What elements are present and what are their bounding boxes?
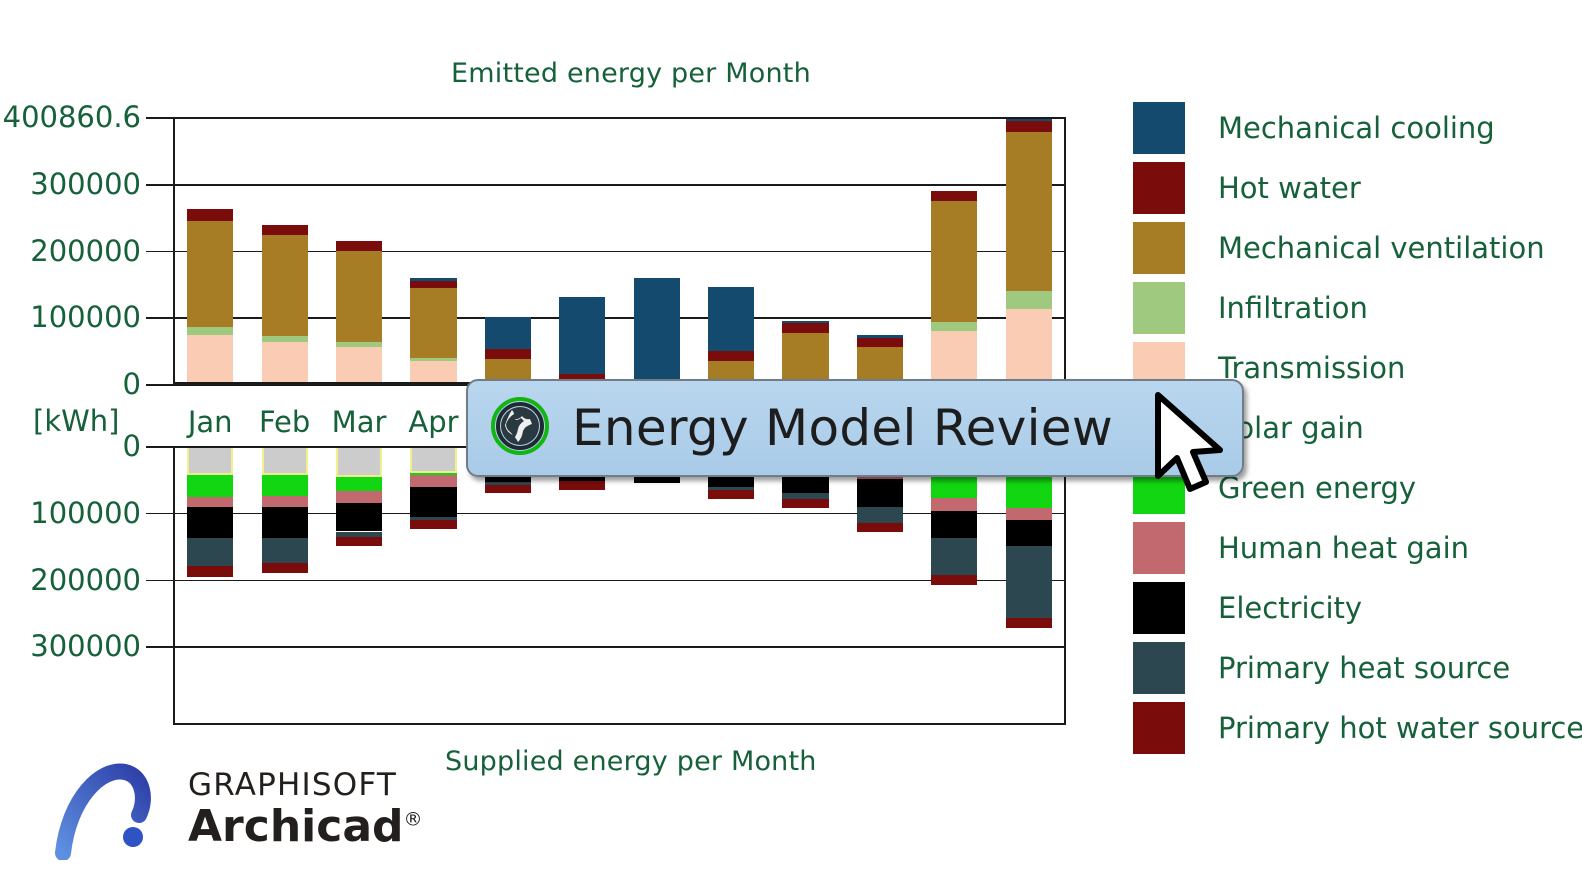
bar-segment [782,323,828,332]
legend-item-1[interactable]: Hot water [1133,158,1361,218]
bar-segment [410,361,456,384]
x-tick-label-jan: Jan [188,405,233,439]
chip-label: Energy Model Review [572,399,1113,457]
bar-segment [559,481,605,490]
bar-segment [1006,618,1052,629]
bar-segment [262,235,308,336]
bar-segment [708,351,754,361]
bar-segment [410,288,456,358]
bar-segment [1006,309,1052,384]
legend-item-0[interactable]: Mechanical cooling [1133,98,1495,158]
bar-segment [187,327,233,334]
tick-mark [146,184,173,186]
legend-label: Human heat gain [1218,531,1469,565]
y-tick-label: 100000 [30,496,141,530]
bar-segment [931,331,977,384]
graphisoft-archicad-logo: GRAPHISOFT Archicad® [55,755,423,864]
gridline [173,117,1066,119]
legend-item-9[interactable]: Primary heat source [1133,638,1510,698]
tick-mark [146,317,173,319]
x-tick-label-mar: Mar [332,405,387,439]
bar-segment [262,225,308,236]
bar-segment [187,209,233,220]
archicad-wordmark: GRAPHISOFT Archicad® [188,770,423,849]
legend-label: Transmission [1218,351,1405,385]
y-tick-label: 300000 [30,167,141,201]
tick-mark [146,446,173,448]
x-tick-label-feb: Feb [259,405,310,439]
bar-segment [857,523,903,532]
bar-segment [782,493,828,500]
bar-segment [336,347,382,384]
legend-item-2[interactable]: Mechanical ventilation [1133,218,1545,278]
legend-label: Primary hot water source [1218,711,1582,745]
tick-mark [146,251,173,253]
legend-label: Infiltration [1218,291,1368,325]
bar-segment [1006,118,1052,121]
graphisoft-mark-icon [55,755,170,864]
y-tick-label: 100000 [30,300,141,334]
bar-segment [336,251,382,342]
bar-segment [634,278,680,384]
bar-segment [485,349,531,358]
bar-segment [1006,121,1052,132]
energy-model-review-chip[interactable]: Energy Model Review [466,379,1244,477]
product-name: Archicad® [188,805,423,849]
emitted-chart-title: Emitted energy per Month [451,58,811,89]
legend-item-10[interactable]: Primary hot water source [1133,698,1582,758]
legend-swatch [1133,702,1185,754]
bar-segment [782,499,828,508]
bar-segment [559,297,605,374]
bar-segment [782,321,828,324]
legend-item-8[interactable]: Electricity [1133,578,1362,638]
legend-swatch [1133,642,1185,694]
legend-label: Mechanical ventilation [1218,231,1545,265]
bar-segment [410,358,456,361]
bar-segment [410,475,456,487]
bar-segment [262,563,308,573]
legend-swatch [1133,102,1185,154]
legend-label: Electricity [1218,591,1362,625]
bar-segment [857,335,903,338]
y-tick-label: 300000 [30,629,141,663]
bar-segment [931,575,977,585]
bar-segment [857,507,903,523]
vendor-name: GRAPHISOFT [188,770,423,801]
tick-mark [146,580,173,582]
bar-segment [187,446,233,475]
supplied-chart-title: Supplied energy per Month [445,746,817,777]
legend-swatch [1133,162,1185,214]
bar-segment [708,490,754,499]
bar-segment [1006,520,1052,545]
tick-mark [146,646,173,648]
bar-segment [336,241,382,251]
y-tick-label: 200000 [30,563,141,597]
tick-mark [146,117,173,119]
bar-segment [262,538,308,563]
bar-segment [410,281,456,288]
bar-segment [262,446,308,475]
bar-segment [187,507,233,538]
legend-item-7[interactable]: Human heat gain [1133,518,1469,578]
bar-segment [336,491,382,503]
bar-segment [931,538,977,575]
bar-segment [187,221,233,328]
gridline [173,646,1066,648]
y-tick-label: 400860.6 [3,100,141,134]
y-tick-label: 200000 [30,234,141,268]
bar-segment [485,317,531,349]
legend-item-3[interactable]: Infiltration [1133,278,1368,338]
bar-segment [410,520,456,529]
legend-swatch [1133,582,1185,634]
bar-segment [336,503,382,531]
bar-segment [485,485,531,494]
legend-swatch [1133,522,1185,574]
bar-segment [857,338,903,347]
bar-segment [336,446,382,477]
bar-segment [410,278,456,281]
emitted-y-axis-unit: [kWh] [33,404,119,438]
bar-segment [187,335,233,384]
bar-segment [857,479,903,507]
bar-segment [1006,291,1052,309]
tick-mark [146,384,173,386]
bar-segment [262,475,308,496]
bar-segment [931,322,977,331]
bar-segment [187,475,233,497]
bar-segment [336,477,382,491]
bar-segment [782,333,828,384]
x-tick-label-apr: Apr [408,405,458,439]
bar-segment [931,498,977,511]
legend-label: Mechanical cooling [1218,111,1495,145]
y-tick-label: 0 [123,429,141,463]
bar-segment [708,287,754,352]
bar-segment [187,497,233,508]
legend-label: Hot water [1218,171,1361,205]
legend-swatch [1133,282,1185,334]
gridline [173,184,1066,186]
legend-swatch [1133,222,1185,274]
bar-segment [931,511,977,538]
bar-segment [187,566,233,577]
bar-segment [262,496,308,507]
bar-segment [931,201,977,322]
bar-segment [1006,546,1052,618]
y-tick-label: 0 [123,367,141,401]
bar-segment [410,487,456,516]
tick-mark [146,513,173,515]
mouse-pointer-icon [1152,392,1236,504]
globe-icon [490,396,550,460]
bar-segment [1006,508,1052,520]
bar-segment [1006,132,1052,291]
bar-segment [262,507,308,537]
bar-segment [410,446,456,473]
bar-segment [187,538,233,566]
legend-label: Primary heat source [1218,651,1510,685]
energy-report-canvas: Emitted energy per Month Supplied energy… [0,0,1582,890]
legend-label: Green energy [1218,471,1416,505]
bar-segment [262,336,308,342]
bar-segment [336,537,382,546]
bar-segment [931,191,977,202]
bar-segment [262,342,308,384]
bar-segment [336,342,382,347]
